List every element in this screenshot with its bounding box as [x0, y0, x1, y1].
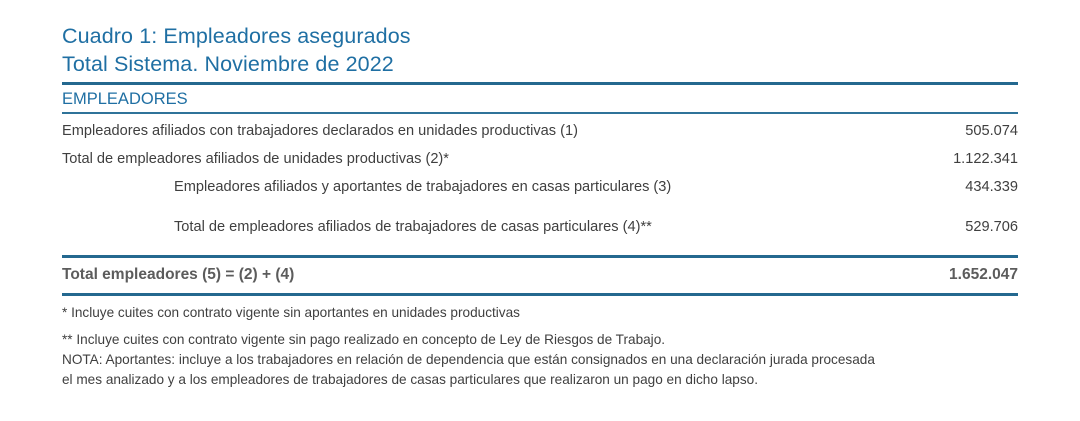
total-section: Total empleadores (5) = (2) + (4) 1.652.…	[62, 255, 1018, 296]
table-sheet: Cuadro 1: Empleadores asegurados Total S…	[0, 0, 1080, 421]
table-row: Empleadores afiliados con trabajadores d…	[62, 114, 1018, 145]
footnote-double-asterisk: ** Incluye cuites con contrato vigente s…	[62, 330, 1037, 350]
footnotes: * Incluye cuites con contrato vigente si…	[62, 303, 1037, 390]
page-title: Cuadro 1: Empleadores asegurados Total S…	[62, 22, 1018, 78]
total-label: Total empleadores (5) = (2) + (4)	[62, 264, 294, 286]
title-line-1: Cuadro 1: Empleadores asegurados	[62, 22, 1018, 50]
row-label: Total de empleadores afiliados de unidad…	[62, 149, 449, 169]
row-value: 434.339	[965, 177, 1018, 197]
footnote-nota-line-2: el mes analizado y a los empleadores de …	[62, 370, 1037, 390]
row-value: 529.706	[965, 217, 1018, 237]
title-line-2: Total Sistema. Noviembre de 2022	[62, 50, 1018, 78]
table-row: Total de empleadores afiliados de unidad…	[62, 145, 1018, 173]
footnote-nota-line-1: NOTA: Aportantes: incluye a los trabajad…	[62, 350, 1037, 370]
total-row: Total empleadores (5) = (2) + (4) 1.652.…	[62, 258, 1018, 293]
row-label: Total de empleadores afiliados de trabaj…	[62, 217, 652, 237]
row-value: 505.074	[965, 121, 1018, 141]
table-row: Empleadores afiliados y aportantes de tr…	[62, 173, 1018, 201]
row-value: 1.122.341	[953, 149, 1018, 169]
section-header-empleadores: EMPLEADORES	[62, 85, 1018, 112]
table-row: Total de empleadores afiliados de trabaj…	[62, 201, 1018, 241]
row-label: Empleadores afiliados con trabajadores d…	[62, 121, 578, 141]
row-label: Empleadores afiliados y aportantes de tr…	[62, 177, 671, 197]
table-body: Empleadores afiliados con trabajadores d…	[62, 114, 1018, 241]
total-value: 1.652.047	[949, 264, 1018, 286]
footnote-single-asterisk: * Incluye cuites con contrato vigente si…	[62, 303, 1037, 323]
divider-below-total	[62, 293, 1018, 296]
